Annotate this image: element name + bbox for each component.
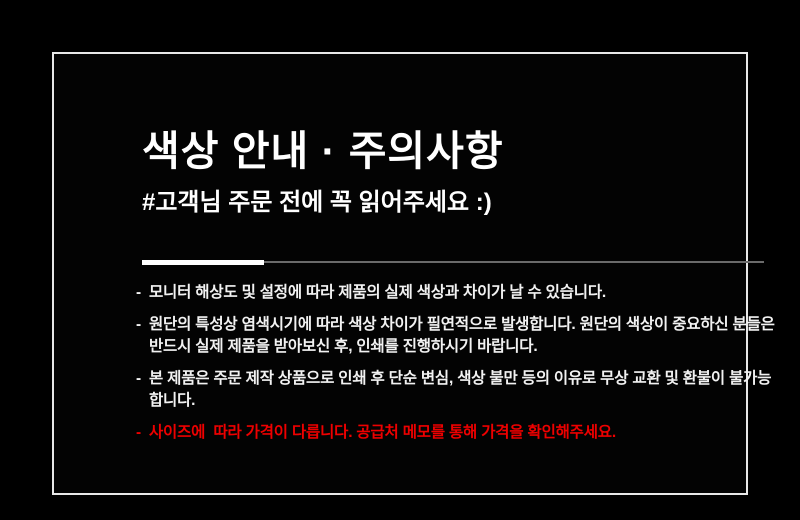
list-bullet: - xyxy=(136,282,149,304)
notice-frame: 색상 안내 · 주의사항 #고객님 주문 전에 꼭 읽어주세요 :) - 모니터… xyxy=(52,52,748,495)
list-item-text: 본 제품은 주문 제작 상품으로 인쇄 후 단순 변심, 색상 불만 등의 이유… xyxy=(149,368,776,412)
notice-header: 색상 안내 · 주의사항 #고객님 주문 전에 꼭 읽어주세요 :) xyxy=(142,128,766,218)
notice-canvas: 색상 안내 · 주의사항 #고객님 주문 전에 꼭 읽어주세요 :) - 모니터… xyxy=(0,0,800,520)
list-bullet: - xyxy=(136,368,149,390)
list-item: - 본 제품은 주문 제작 상품으로 인쇄 후 단순 변심, 색상 불만 등의 … xyxy=(136,368,776,412)
notice-list: - 모니터 해상도 및 설정에 따라 제품의 실제 색상과 차이가 날 수 있습… xyxy=(136,282,776,454)
list-item: - 원단의 특성상 염색시기에 따라 색상 차이가 필연적으로 발생합니다. 원… xyxy=(136,314,776,358)
page-title: 색상 안내 · 주의사항 xyxy=(142,128,766,175)
divider-dim-segment xyxy=(264,261,764,263)
list-item: - 모니터 해상도 및 설정에 따라 제품의 실제 색상과 차이가 날 수 있습… xyxy=(136,282,776,304)
page-subtitle: #고객님 주문 전에 꼭 읽어주세요 :) xyxy=(142,189,766,218)
section-divider xyxy=(142,260,764,265)
divider-bright-segment xyxy=(142,260,264,265)
list-item-text: 사이즈에 따라 가격이 다릅니다. 공급처 메모를 통해 가격을 확인해주세요. xyxy=(149,422,776,444)
list-item-highlighted: - 사이즈에 따라 가격이 다릅니다. 공급처 메모를 통해 가격을 확인해주세… xyxy=(136,422,776,444)
list-bullet: - xyxy=(136,314,149,336)
list-bullet: - xyxy=(136,422,149,444)
list-item-text: 모니터 해상도 및 설정에 따라 제품의 실제 색상과 차이가 날 수 있습니다… xyxy=(149,282,776,304)
list-item-text: 원단의 특성상 염색시기에 따라 색상 차이가 필연적으로 발생합니다. 원단의… xyxy=(149,314,776,358)
